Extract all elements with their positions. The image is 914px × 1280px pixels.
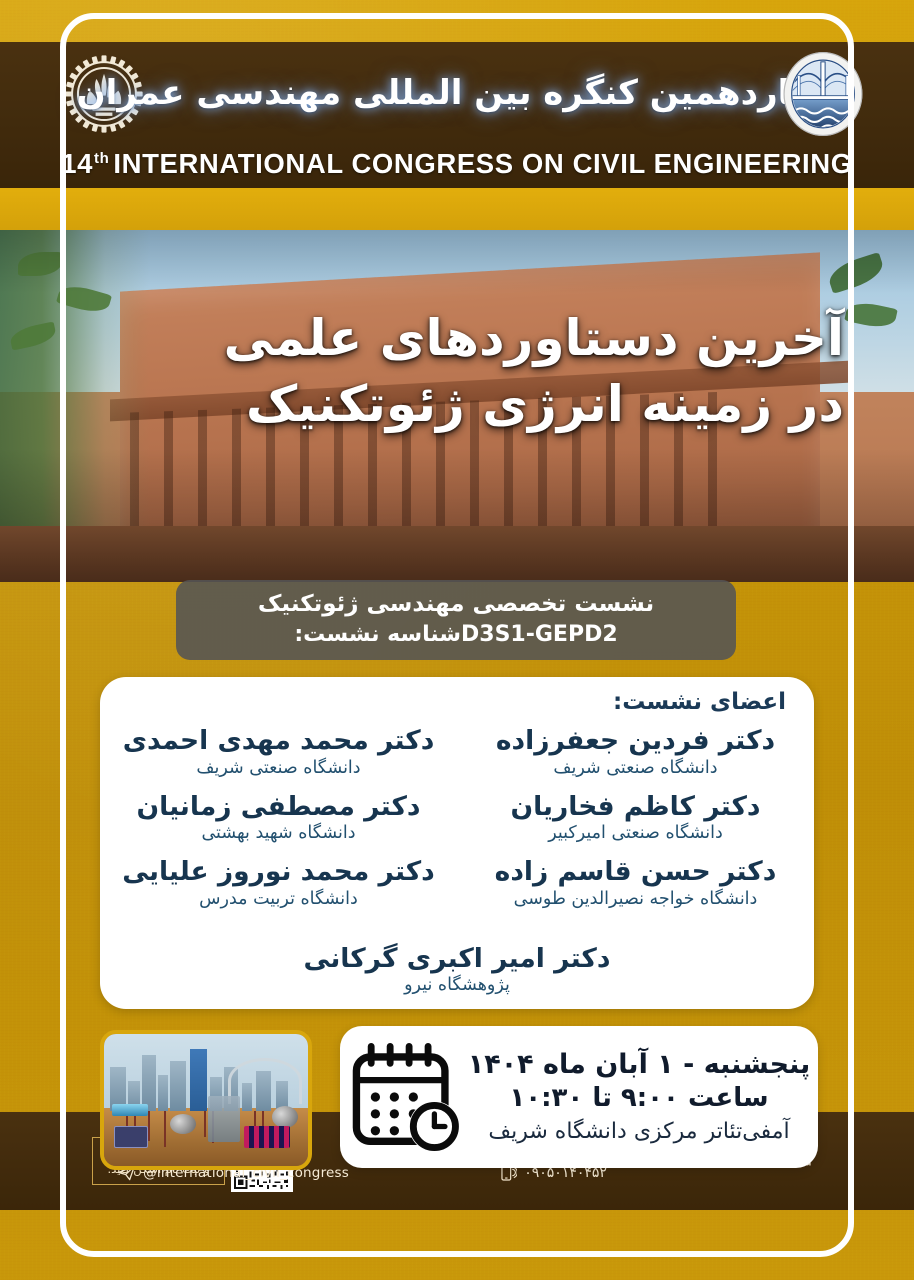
- thumb-underground-structure: [244, 1126, 290, 1148]
- panel-member: دکتر کاظم فخاریان دانشگاه صنعتی امیرکبیر: [473, 791, 798, 846]
- congress-ordinal: th: [94, 150, 109, 167]
- member-name: دکتر حسن قاسم زاده: [473, 856, 798, 888]
- event-venue: آمفی‌تئاتر مرکزی دانشگاه شریف: [466, 1117, 812, 1147]
- member-name: دکتر امیر اکبری گرکانی: [100, 943, 814, 974]
- panel-title: اعضای نشست:: [613, 689, 786, 715]
- member-name: دکتر مصطفی زمانیان: [116, 791, 441, 823]
- gold-divider-strip: [0, 188, 914, 232]
- session-info-strip: نشست تخصصی مهندسی ژئوتکنیک D3S1-GEPD2شنا…: [176, 580, 736, 660]
- thumb-tower: [158, 1075, 168, 1111]
- congress-number: 14: [61, 148, 93, 179]
- thumb-underground-structure: [112, 1104, 148, 1116]
- thumb-tower-highlight: [190, 1049, 207, 1111]
- member-affiliation: دانشگاه صنعتی شریف: [116, 758, 441, 780]
- thumb-tower: [142, 1055, 156, 1111]
- panel-columns: دکتر فردین جعفرزاده دانشگاه صنعتی شریف د…: [100, 725, 814, 922]
- panel-member: دکتر محمد نوروز علیایی دانشگاه تربیت مدر…: [116, 856, 441, 911]
- member-affiliation: دانشگاه خواجه نصیرالدین طوسی: [473, 889, 798, 911]
- session-id-value: D3S1-GEPD2: [461, 622, 618, 647]
- panel-member: دکتر حسن قاسم زاده دانشگاه خواجه نصیرالد…: [473, 856, 798, 911]
- thumb-underground-structure: [208, 1096, 240, 1142]
- calendar-clock-icon: [348, 1042, 466, 1152]
- panel-member: دکتر محمد مهدی احمدی دانشگاه صنعتی شریف: [116, 725, 441, 780]
- main-headline: آخرین دستاوردهای علمی در زمینه انرژی ژئو…: [64, 305, 844, 437]
- panel-column-right: دکتر فردین جعفرزاده دانشگاه صنعتی شریف د…: [457, 725, 814, 922]
- headline-line-1: آخرین دستاوردهای علمی: [224, 309, 844, 367]
- thumb-pile: [204, 1111, 206, 1137]
- congress-logo-icon: [780, 50, 866, 138]
- header-title-english: 14thINTERNATIONAL CONGRESS ON CIVIL ENGI…: [0, 148, 914, 180]
- thumb-tower: [170, 1061, 186, 1111]
- session-id-label: شناسه نشست:: [294, 622, 461, 647]
- thumb-pile: [164, 1111, 166, 1147]
- member-name: دکتر فردین جعفرزاده: [473, 725, 798, 757]
- panel-member: دکتر فردین جعفرزاده دانشگاه صنعتی شریف: [473, 725, 798, 780]
- member-affiliation: دانشگاه صنعتی شریف: [473, 758, 798, 780]
- panel-column-left: دکتر محمد مهدی احمدی دانشگاه صنعتی شریف …: [100, 725, 457, 922]
- thumb-tunnel: [272, 1106, 298, 1128]
- panel-member: دکتر مصطفی زمانیان دانشگاه شهید بهشتی: [116, 791, 441, 846]
- thumb-underground-structure: [114, 1126, 148, 1148]
- member-name: دکتر محمد مهدی احمدی: [116, 725, 441, 757]
- panel-member-wide: دکتر امیر اکبری گرکانی پژوهشگاه نیرو: [100, 943, 814, 995]
- member-name: دکتر کاظم فخاریان: [473, 791, 798, 823]
- event-time: ساعت ۹:۰۰ تا ۱۰:۳۰: [466, 1082, 812, 1116]
- event-date: پنجشنبه - ۱ آبان ماه ۱۴۰۴: [466, 1047, 812, 1082]
- member-affiliation: دانشگاه شهید بهشتی: [116, 823, 441, 845]
- poster-root: آخرین دستاوردهای علمی در زمینه انرژی ژئو…: [0, 0, 914, 1280]
- session-id-row: D3S1-GEPD2شناسه نشست:: [294, 621, 617, 650]
- congress-title-text: INTERNATIONAL CONGRESS ON CIVIL ENGINEER…: [113, 148, 852, 179]
- member-name: دکتر محمد نوروز علیایی: [116, 856, 441, 888]
- thumb-tunnel: [170, 1114, 196, 1134]
- date-time-text: پنجشنبه - ۱ آبان ماه ۱۴۰۴ ساعت ۹:۰۰ تا ۱…: [466, 1047, 818, 1147]
- header-title-farsi: چهاردهمین کنگره بین المللی مهندسی عمران: [0, 50, 914, 136]
- headline-line-2: در زمینه انرژی ژئوتکنیک: [64, 371, 844, 437]
- geotechnical-illustration-thumbnail: [100, 1030, 312, 1170]
- thumb-pile: [148, 1111, 150, 1141]
- member-affiliation: دانشگاه صنعتی امیرکبیر: [473, 823, 798, 845]
- panel-members-card: اعضای نشست: دکتر فردین جعفرزاده دانشگاه …: [100, 677, 814, 1009]
- date-time-venue-box: پنجشنبه - ۱ آبان ماه ۱۴۰۴ ساعت ۹:۰۰ تا ۱…: [340, 1026, 818, 1168]
- member-affiliation: پژوهشگاه نیرو: [100, 975, 814, 995]
- member-affiliation: دانشگاه تربیت مدرس: [116, 889, 441, 911]
- session-name: نشست تخصصی مهندسی ژئوتکنیک: [258, 590, 654, 619]
- poster-header: چهاردهمین کنگره بین المللی مهندسی عمران …: [0, 42, 914, 188]
